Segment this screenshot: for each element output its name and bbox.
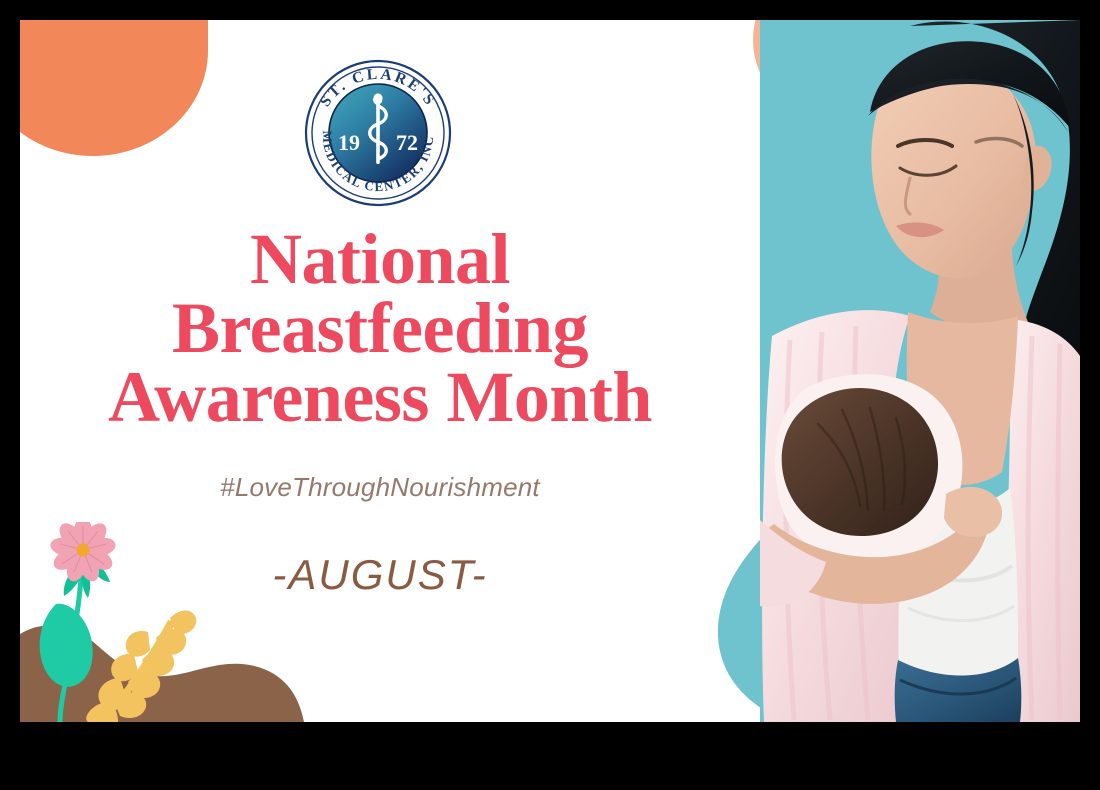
- mother-breastfeeding-baby-photo: [760, 20, 1080, 722]
- page-title: National Breastfeeding Awareness Month: [20, 225, 740, 432]
- poster-root: ST. CLARE'S MEDICAL CENTER, INC. 19: [0, 0, 1100, 790]
- flower-center: [77, 544, 90, 557]
- hashtag-text: #LoveThroughNourishment: [20, 472, 740, 503]
- floral-decoration-cluster: [20, 522, 320, 722]
- orange-blob-top-left: [20, 20, 208, 156]
- headline-line-2: Breastfeeding: [28, 294, 732, 363]
- poster-canvas: ST. CLARE'S MEDICAL CENTER, INC. 19: [20, 20, 1080, 722]
- headline-line-1: National: [28, 225, 732, 294]
- logo-year-left: 19: [338, 130, 360, 155]
- logo-year-right: 72: [396, 130, 418, 155]
- st-clares-medical-center-logo: ST. CLARE'S MEDICAL CENTER, INC. 19: [303, 58, 453, 208]
- headline-line-3: Awareness Month: [28, 363, 732, 432]
